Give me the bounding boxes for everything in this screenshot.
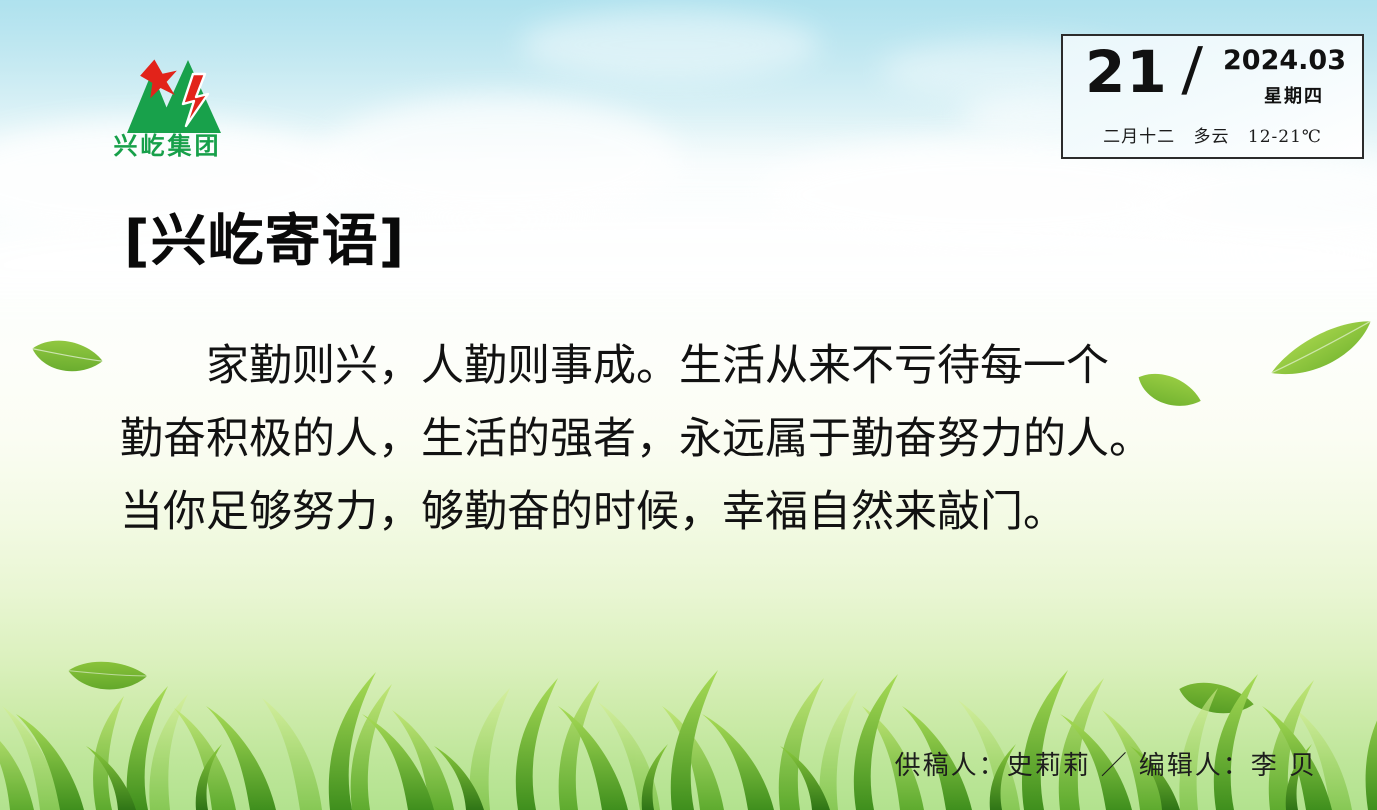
credits-divider: ／ bbox=[1101, 751, 1129, 781]
date-secondary-row: 二月十二 多云 12-21℃ bbox=[1063, 122, 1362, 147]
message-body: 家勤则兴，人勤则事成。生活从来不亏待每一个 勤奋积极的人，生活的强者，永远属于勤… bbox=[120, 330, 1280, 549]
poster-canvas: 兴屹集团 21 / 2024.03 星期四 二月十二 多云 12-21℃ [兴屹… bbox=[0, 0, 1377, 810]
cloud-wisp-top bbox=[520, 10, 820, 80]
page-title: [兴屹寄语] bbox=[124, 196, 405, 277]
date-separator-icon: / bbox=[1181, 37, 1204, 105]
editor-label: 编辑人： bbox=[1139, 751, 1251, 781]
message-line-3: 当你足够努力，够勤奋的时候，幸福自然来敲门。 bbox=[120, 476, 1280, 549]
date-weekday: 星期四 bbox=[1264, 82, 1324, 108]
temperature-range: 12-21℃ bbox=[1248, 127, 1322, 147]
lunar-date: 二月十二 bbox=[1103, 127, 1175, 147]
company-logo: 兴屹集团 bbox=[95, 38, 240, 163]
date-year-month: 2024.03 bbox=[1223, 45, 1346, 76]
date-primary-row: 21 / 2024.03 星期四 bbox=[1063, 39, 1362, 107]
date-card: 21 / 2024.03 星期四 二月十二 多云 12-21℃ bbox=[1061, 34, 1364, 159]
editor-name: 李 贝 bbox=[1251, 751, 1317, 781]
contributor-name: 史莉莉 bbox=[1007, 751, 1091, 781]
credits-footer: 供稿人：史莉莉／编辑人：李 贝 bbox=[895, 745, 1317, 782]
message-line-2: 勤奋积极的人，生活的强者，永远属于勤奋努力的人。 bbox=[120, 403, 1280, 476]
contributor-label: 供稿人： bbox=[895, 751, 1007, 781]
date-day: 21 bbox=[1085, 41, 1168, 103]
weather-condition: 多云 bbox=[1193, 127, 1229, 147]
leaf-top-left-icon bbox=[24, 321, 110, 395]
logo-wordmark: 兴屹集团 bbox=[95, 126, 240, 161]
message-line-1: 家勤则兴，人勤则事成。生活从来不亏待每一个 bbox=[120, 330, 1280, 403]
